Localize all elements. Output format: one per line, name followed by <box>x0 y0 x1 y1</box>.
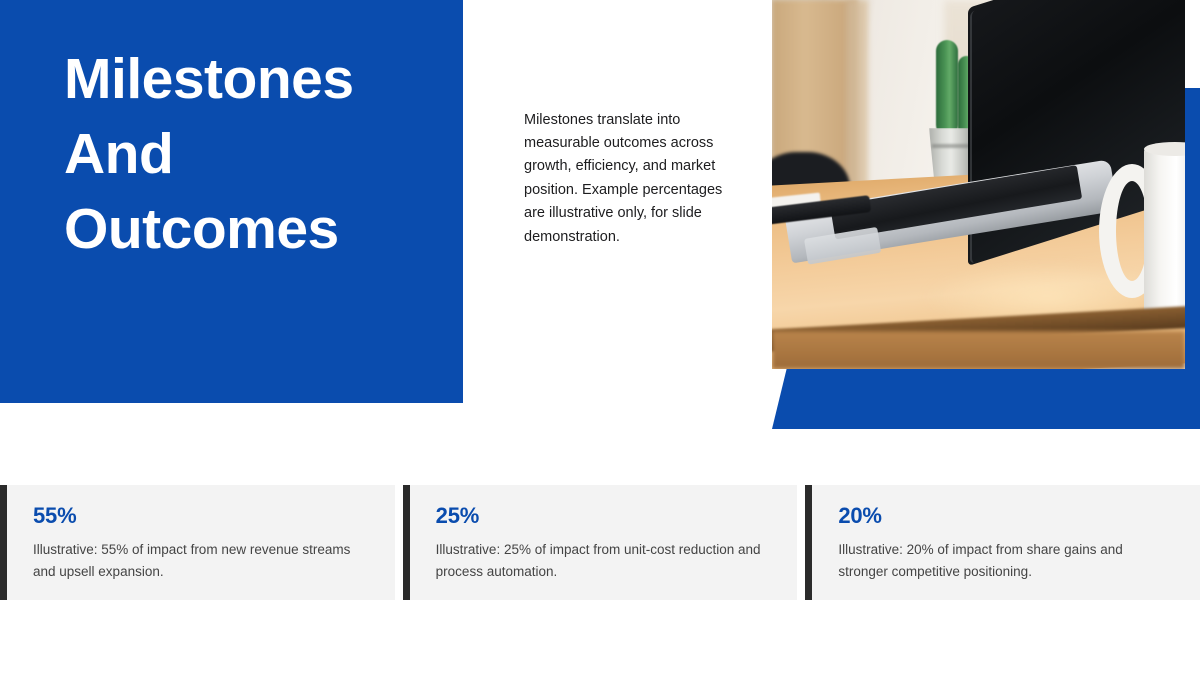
intro-paragraph: Milestones translate into measurable out… <box>524 109 724 250</box>
stat-card-2: 25% Illustrative: 25% of impact from uni… <box>403 485 798 600</box>
stat-value-2: 25% <box>436 505 772 527</box>
title-panel: Milestones And Outcomes <box>0 0 463 403</box>
stat-card-1: 55% Illustrative: 55% of impact from new… <box>0 485 395 600</box>
photo-wood-column-secondary <box>846 0 868 198</box>
stat-value-3: 20% <box>838 505 1174 527</box>
slide-canvas: Milestones And Outcomes Milestones trans… <box>0 0 1200 675</box>
photo-cactus-stem-main <box>936 40 958 136</box>
stat-description-3: Illustrative: 20% of impact from share g… <box>838 539 1174 583</box>
photo-floor <box>772 331 1185 369</box>
stat-description-1: Illustrative: 55% of impact from new rev… <box>33 539 369 583</box>
stat-description-2: Illustrative: 25% of impact from unit-co… <box>436 539 772 583</box>
photo-plant-pot-rim <box>932 144 970 148</box>
statistics-row: 55% Illustrative: 55% of impact from new… <box>0 485 1200 600</box>
page-title: Milestones And Outcomes <box>64 42 444 268</box>
desk-workspace-photo <box>772 0 1185 369</box>
stat-value-1: 55% <box>33 505 369 527</box>
photo-coffee-mug <box>1144 146 1185 324</box>
stat-card-3: 20% Illustrative: 20% of impact from sha… <box>805 485 1200 600</box>
